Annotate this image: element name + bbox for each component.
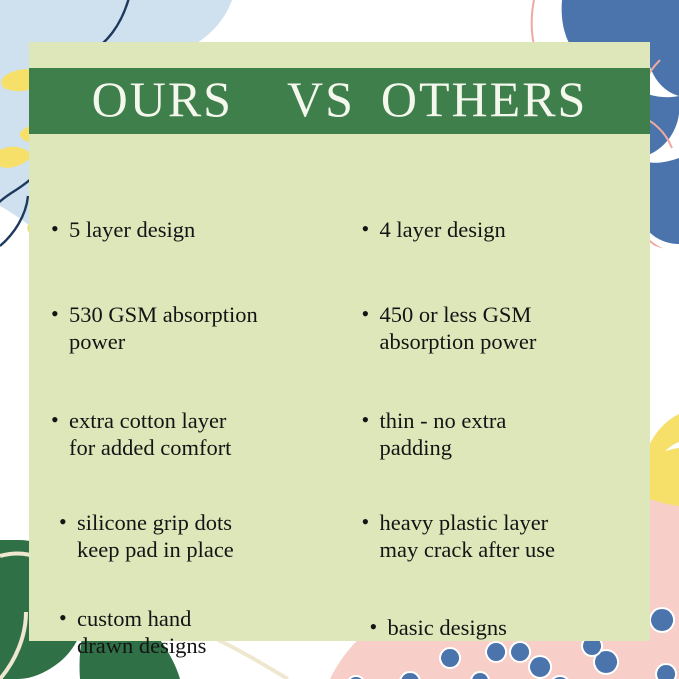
bullet-icon: • bbox=[362, 509, 376, 536]
list-item-label: thin - no extra padding bbox=[380, 407, 507, 462]
list-item-label: custom hand drawn designs bbox=[77, 605, 206, 660]
title-band: OURS VS OTHERS bbox=[29, 68, 650, 134]
list-item: • custom hand drawn designs bbox=[59, 605, 327, 660]
list-item-label: silicone grip dots keep pad in place bbox=[77, 509, 234, 564]
comparison-card: OURS VS OTHERS • 5 layer design • 530 GS… bbox=[29, 42, 650, 641]
bullet-icon: • bbox=[59, 509, 73, 536]
bullet-icon: • bbox=[362, 407, 376, 434]
header-ours-label: OURS bbox=[92, 74, 233, 124]
others-column: • 4 layer design • 450 or less GSM absor… bbox=[340, 146, 651, 641]
list-item: • thin - no extra padding bbox=[362, 407, 634, 462]
bullet-icon: • bbox=[362, 216, 376, 243]
list-item: • heavy plastic layer may crack after us… bbox=[362, 509, 642, 564]
list-item-label: 450 or less GSM absorption power bbox=[380, 301, 537, 356]
bullet-icon: • bbox=[51, 301, 65, 328]
list-item-label: extra cotton layer for added comfort bbox=[69, 407, 231, 462]
header-others-label: OTHERS bbox=[381, 74, 587, 124]
comparison-infographic: OURS VS OTHERS • 5 layer design • 530 GS… bbox=[0, 0, 679, 679]
bullet-icon: • bbox=[370, 614, 384, 641]
bullet-icon: • bbox=[362, 301, 376, 328]
comparison-columns: • 5 layer design • 530 GSM absorption po… bbox=[29, 146, 650, 641]
list-item: • 5 layer design bbox=[51, 216, 323, 243]
header-vs-label: VS bbox=[287, 74, 355, 124]
bullet-icon: • bbox=[59, 605, 73, 632]
list-item-label: 4 layer design bbox=[380, 216, 506, 243]
bullet-icon: • bbox=[51, 407, 65, 434]
list-item-label: basic designs bbox=[388, 614, 507, 641]
list-item: • 4 layer design bbox=[362, 216, 634, 243]
list-item: • silicone grip dots keep pad in place bbox=[59, 509, 327, 564]
list-item: • 450 or less GSM absorption power bbox=[362, 301, 634, 356]
list-item-label: 5 layer design bbox=[69, 216, 195, 243]
list-item-label: heavy plastic layer may crack after use bbox=[380, 509, 556, 564]
bullet-icon: • bbox=[51, 216, 65, 243]
list-item: • basic designs bbox=[370, 614, 642, 641]
list-item-label: 530 GSM absorption power bbox=[69, 301, 258, 356]
ours-column: • 5 layer design • 530 GSM absorption po… bbox=[29, 146, 340, 641]
list-item: • 530 GSM absorption power bbox=[51, 301, 323, 356]
list-item: • extra cotton layer for added comfort bbox=[51, 407, 323, 462]
